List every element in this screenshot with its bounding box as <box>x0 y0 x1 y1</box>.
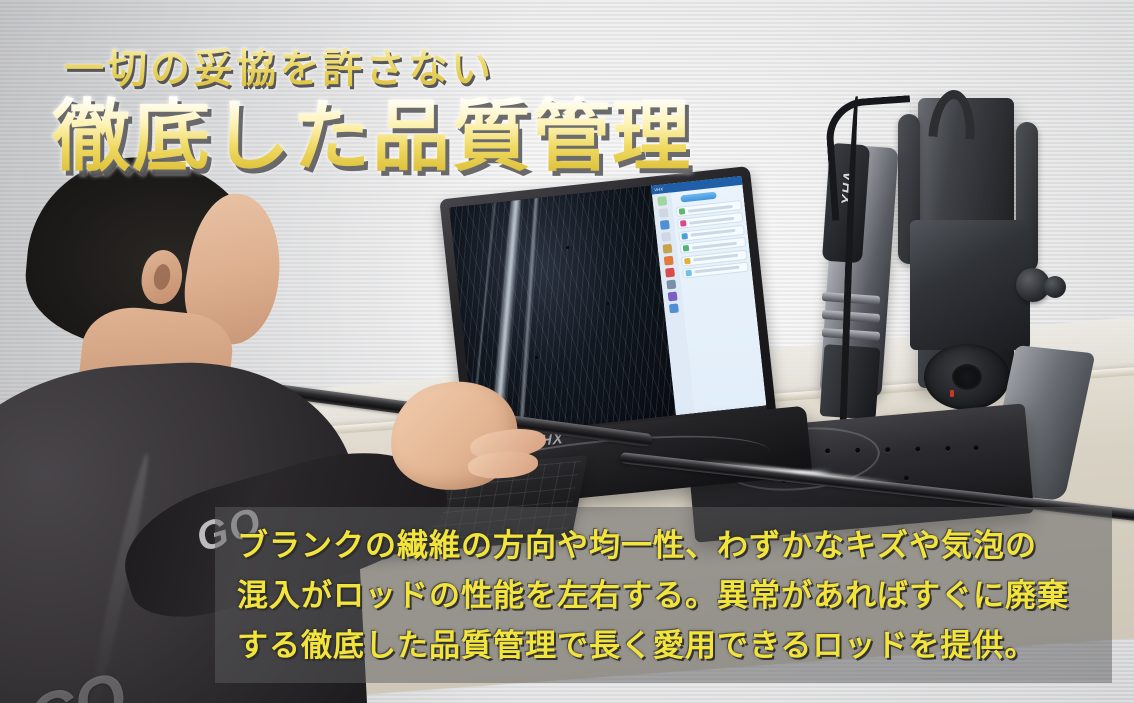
rail-icon-10[interactable] <box>669 303 679 313</box>
rail-icon-5[interactable] <box>662 244 672 254</box>
microscope-body-block <box>910 220 1030 350</box>
caption-line-1: ブランクの繊維の方向や均一性、わずかなキズや気泡の <box>237 521 1090 571</box>
software-title-text: VHX <box>654 186 663 192</box>
caption-line-2: 混入がロッドの性能を左右する。異常があればすぐに廃棄 <box>237 571 1090 621</box>
promo-image: VHX <box>0 0 1134 703</box>
rail-icon-6[interactable] <box>664 256 674 266</box>
headline-block: 一切の妥協を許さない 徹底した品質管理 <box>52 36 732 178</box>
rail-icon-3[interactable] <box>660 220 670 230</box>
camera-cable-loop <box>824 95 918 221</box>
surface-speck <box>566 246 569 249</box>
digital-microscope: VHX <box>800 98 1100 438</box>
surface-speck <box>606 302 609 305</box>
rail-icon-1[interactable] <box>657 196 667 206</box>
focus-knob-small[interactable] <box>1044 276 1066 298</box>
rail-icon-7[interactable] <box>665 268 675 278</box>
active-mode-pill[interactable] <box>680 192 717 203</box>
rail-icon-2[interactable] <box>658 208 668 218</box>
headline-title: 徹底した品質管理 <box>52 96 732 178</box>
rail-icon-8[interactable] <box>666 280 676 290</box>
objective-turret-dial[interactable] <box>924 344 1010 410</box>
rail-icon-9[interactable] <box>668 292 678 302</box>
caption-line-3: する徹底した品質管理で長く愛用できるロッドを提供。 <box>237 621 1090 671</box>
caption-overlay: ブランクの繊維の方向や均一性、わずかなキズや気泡の 混入がロッドの性能を左右する… <box>215 507 1112 683</box>
turret-index-mark <box>950 390 954 397</box>
rail-icon-4[interactable] <box>661 232 671 242</box>
headline-subtitle: 一切の妥協を許さない <box>52 36 732 94</box>
